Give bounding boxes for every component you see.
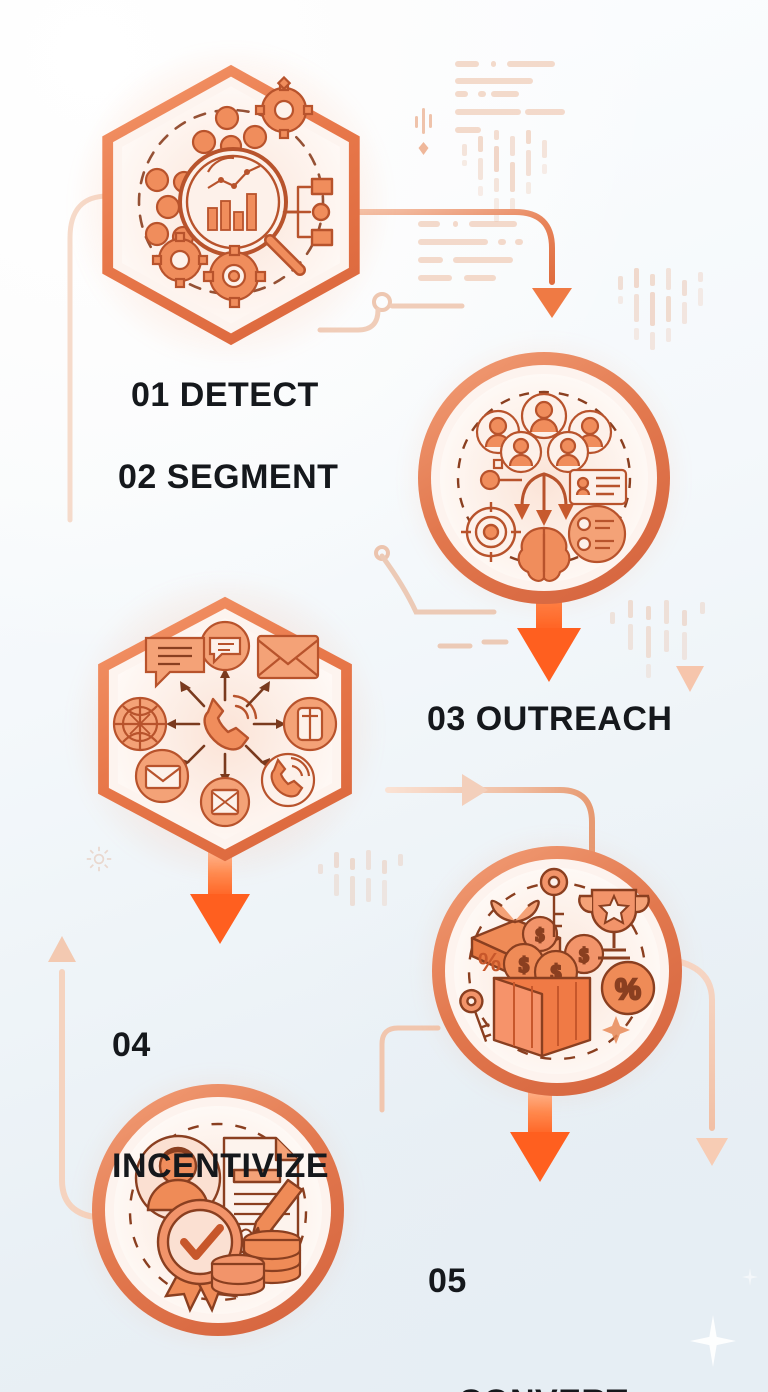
step-label-outreach: 03 OUTREACH bbox=[427, 699, 672, 739]
data-analysis-magnifier-icon bbox=[88, 62, 374, 348]
audience-segmentation-icon bbox=[418, 352, 670, 604]
step-node-detect[interactable] bbox=[88, 62, 374, 348]
decorative-marker-icon bbox=[412, 108, 436, 158]
step-node-outreach[interactable] bbox=[418, 352, 670, 604]
step-number-04: 04 bbox=[112, 1025, 329, 1065]
step-node-convert[interactable]: $ $ $ $ bbox=[432, 846, 682, 1096]
step-label-segment: 02 SEGMENT bbox=[118, 457, 338, 497]
svg-text:$: $ bbox=[519, 953, 530, 977]
infographic-canvas: $ $ $ $ bbox=[0, 0, 768, 1392]
step-number-05: 05 bbox=[428, 1261, 628, 1301]
step-label-incentivize: 04 INCENTIVIZE bbox=[112, 945, 329, 1266]
decorative-digital-rain-top bbox=[460, 130, 580, 250]
decorative-digital-rain-center bbox=[318, 850, 428, 960]
svg-text:%: % bbox=[478, 947, 501, 977]
multichannel-communication-icon bbox=[84, 594, 366, 864]
decorative-sparkle-small bbox=[742, 1268, 758, 1286]
rewards-incentives-icon: $ $ $ $ bbox=[432, 846, 682, 1096]
step-title-05: CONVERT bbox=[458, 1382, 628, 1392]
step-title-04: INCENTIVIZE bbox=[112, 1146, 329, 1186]
step-label-detect: 01 DETECT bbox=[131, 375, 319, 415]
step-label-convert: 05 CONVERT bbox=[428, 1181, 628, 1392]
svg-text:%: % bbox=[615, 974, 641, 1006]
decorative-code-block-middle bbox=[418, 220, 523, 292]
decorative-sparkle-bottom-right bbox=[690, 1315, 736, 1367]
svg-text:$: $ bbox=[579, 945, 589, 967]
svg-text:$: $ bbox=[536, 925, 545, 945]
step-node-incentivize[interactable] bbox=[84, 594, 366, 864]
decorative-code-block-top bbox=[455, 60, 575, 144]
